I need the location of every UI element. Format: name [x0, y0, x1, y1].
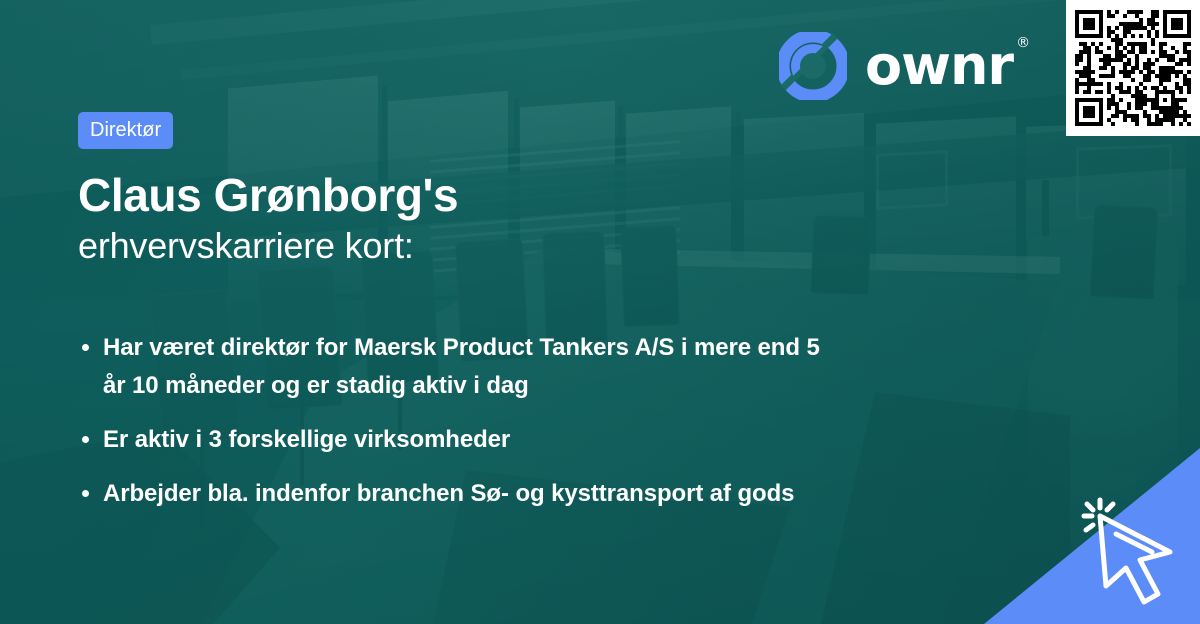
content-column: Direktør Claus Grønborg's erhvervskarrie…: [78, 112, 958, 529]
role-badge: Direktør: [78, 112, 173, 149]
career-fact-item: Arbejder bla. indenfor branchen Sø- og k…: [78, 475, 838, 513]
career-card: ownr® Direktør Claus Grønborg's erhvervs…: [0, 0, 1200, 624]
page-title: Claus Grønborg's: [78, 171, 958, 221]
career-fact-item: Er aktiv i 3 forskellige virksomheder: [78, 421, 838, 459]
career-fact-text: Har været direktør for Maersk Product Ta…: [103, 334, 820, 399]
qr-code-icon: [1075, 10, 1191, 126]
bullet-dot-icon: [82, 344, 89, 351]
ownr-logo[interactable]: ownr®: [779, 32, 1029, 100]
career-fact-text: Er aktiv i 3 forskellige virksomheder: [103, 426, 510, 453]
ownr-wordmark: ownr®: [865, 39, 1029, 93]
bullet-dot-icon: [82, 436, 89, 443]
career-fact-text: Arbejder bla. indenfor branchen Sø- og k…: [103, 480, 794, 507]
career-facts-list: Har været direktør for Maersk Product Ta…: [78, 329, 958, 513]
ownr-circle-swirl-icon: [779, 32, 847, 100]
ownr-wordmark-text: ownr: [865, 34, 1013, 97]
click-cursor-icon: [1066, 490, 1186, 610]
registered-trademark-icon: ®: [1016, 35, 1029, 51]
career-fact-item: Har været direktør for Maersk Product Ta…: [78, 329, 838, 405]
page-subtitle: erhvervskarriere kort:: [78, 225, 958, 267]
bullet-dot-icon: [82, 490, 89, 497]
qr-code[interactable]: [1066, 0, 1200, 136]
